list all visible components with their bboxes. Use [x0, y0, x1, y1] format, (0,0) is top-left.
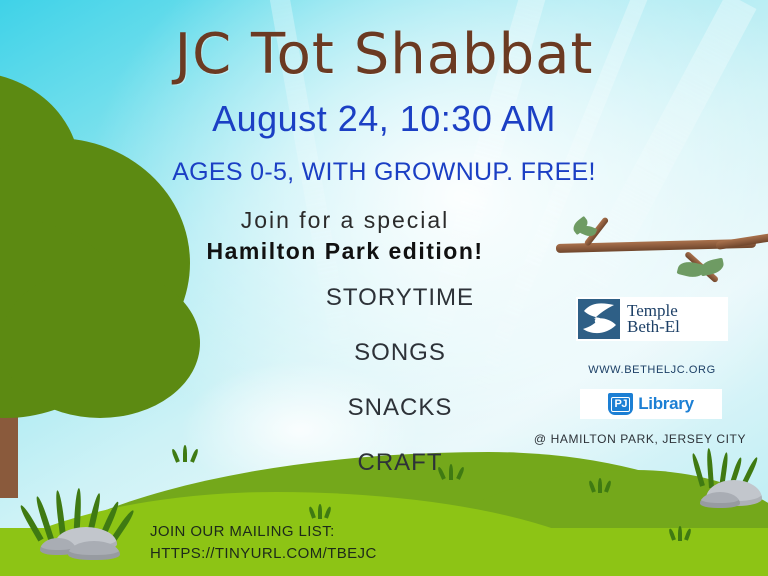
- temple-line-2: Beth-El: [627, 319, 680, 335]
- mailing-list-url[interactable]: HTTPS://TINYURL.COM/TBEJC: [150, 543, 377, 565]
- page-title: JC Tot Shabbat: [0, 22, 768, 87]
- temple-beth-el-logo: Temple Beth-El: [576, 297, 728, 341]
- activity-item: SONGS: [220, 339, 580, 367]
- mailing-list-label: JOIN OUR MAILING LIST:: [150, 521, 377, 543]
- branch-illustration: [556, 216, 768, 278]
- tree-illustration: [0, 78, 250, 498]
- ages-note: AGES 0-5, WITH GROWNUP. FREE!: [0, 158, 768, 187]
- join-block: Join for a special Hamilton Park edition…: [120, 205, 570, 267]
- tree-foliage: [0, 268, 200, 418]
- temple-scroll-icon: [578, 299, 620, 339]
- pj-mark-label: PJ: [611, 397, 629, 412]
- temple-website[interactable]: WWW.BETHELJC.ORG: [576, 364, 728, 376]
- flyer-canvas: JC Tot Shabbat August 24, 10:30 AM AGES …: [0, 0, 768, 576]
- pj-book-icon: PJ: [608, 393, 633, 415]
- activities-list: STORYTIME SONGS SNACKS CRAFT: [220, 284, 580, 504]
- event-date: August 24, 10:30 AM: [0, 98, 768, 140]
- join-line-2: Hamilton Park edition!: [120, 236, 570, 267]
- pj-library-logo: PJ Library: [580, 389, 722, 419]
- leaf-icon: [699, 258, 725, 277]
- temple-scroll-glyph: [578, 299, 620, 339]
- mailing-list-block: JOIN OUR MAILING LIST: HTTPS://TINYURL.C…: [150, 521, 377, 565]
- rock: [700, 492, 740, 508]
- activity-item: CRAFT: [220, 449, 580, 477]
- venue-text: @ HAMILTON PARK, JERSEY CITY: [520, 432, 760, 446]
- activity-item: STORYTIME: [220, 284, 580, 312]
- temple-name: Temple Beth-El: [627, 303, 680, 335]
- activity-item: SNACKS: [220, 394, 580, 422]
- pj-library-wordmark: Library: [638, 394, 694, 414]
- join-line-1: Join for a special: [120, 205, 570, 236]
